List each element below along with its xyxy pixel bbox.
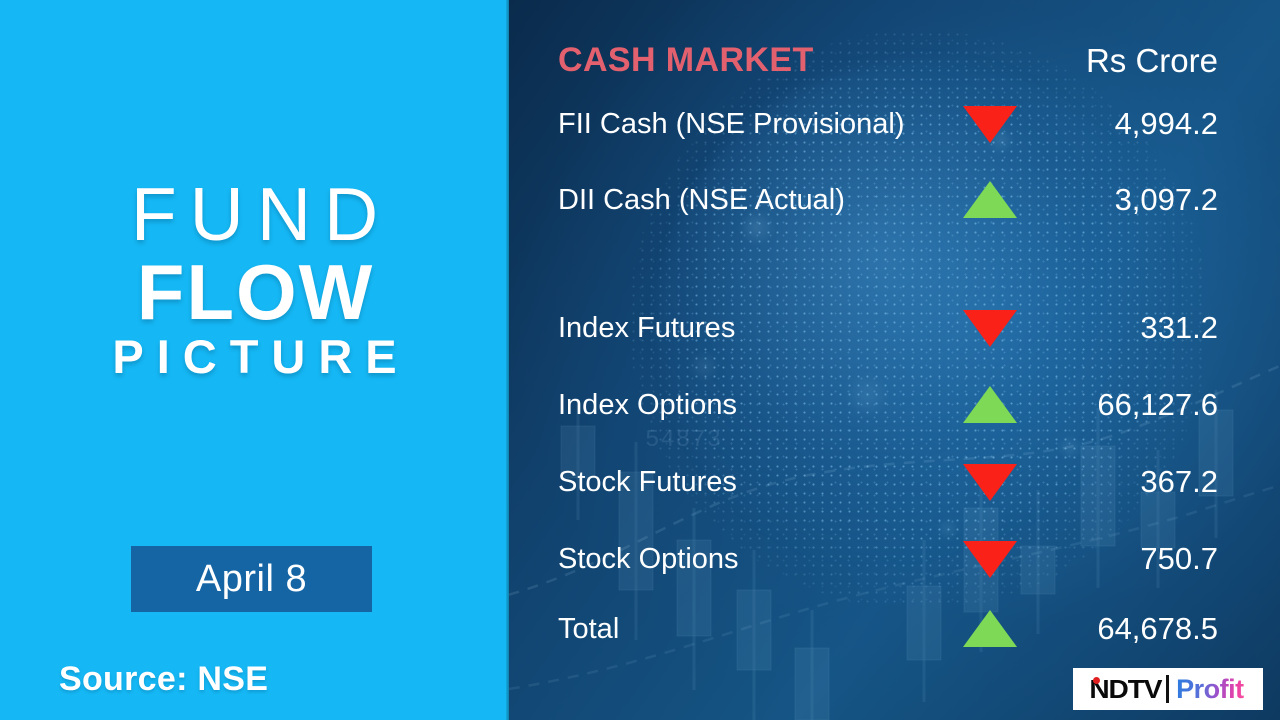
table-row: FII Cash (NSE Provisional) 4,994.2 xyxy=(509,96,1280,152)
direction-up-icon xyxy=(962,385,1018,425)
direction-up-icon xyxy=(962,180,1018,220)
logo-ndtv-text: NDTV xyxy=(1090,674,1162,705)
ndtv-profit-logo: NDTV Profit xyxy=(1073,668,1263,710)
row-label: Stock Futures xyxy=(558,454,737,510)
direction-up-icon xyxy=(962,609,1018,649)
row-value: 750.7 xyxy=(1140,531,1218,587)
title-line-picture: PICTURE xyxy=(0,334,509,380)
fund-flow-table: CASH MARKET Rs Crore FII Cash (NSE Provi… xyxy=(509,0,1280,720)
row-value: 367.2 xyxy=(1140,454,1218,510)
direction-down-icon xyxy=(962,308,1018,348)
title-line-flow: FLOW xyxy=(0,254,509,330)
source-attribution: Source: NSE xyxy=(59,660,268,699)
logo-red-dot-icon xyxy=(1093,677,1100,684)
date-badge: April 8 xyxy=(131,546,372,612)
direction-down-icon xyxy=(962,539,1018,579)
table-row: Stock Options 750.7 xyxy=(509,531,1280,587)
logo-profit-text: Profit xyxy=(1176,674,1244,705)
row-label: Total xyxy=(558,601,619,657)
row-label: DII Cash (NSE Actual) xyxy=(558,172,845,228)
row-label: Stock Options xyxy=(558,531,739,587)
left-title-panel: FUND FLOW PICTURE April 8 Source: NSE xyxy=(0,0,509,720)
fund-flow-picture-graphic: FUND FLOW PICTURE April 8 Source: NSE xyxy=(0,0,1280,720)
page-title: FUND FLOW PICTURE xyxy=(0,178,509,380)
table-row: Stock Futures 367.2 xyxy=(509,454,1280,510)
units-label: Rs Crore xyxy=(1086,42,1218,80)
logo-divider xyxy=(1166,675,1169,703)
direction-down-icon xyxy=(962,104,1018,144)
row-value: 3,097.2 xyxy=(1115,172,1218,228)
section-title: CASH MARKET xyxy=(558,41,814,80)
row-label: Index Options xyxy=(558,377,737,433)
data-panel: 54873 CASH MARKET Rs Crore FII Cash (NSE… xyxy=(509,0,1280,720)
table-row: Index Options 66,127.6 xyxy=(509,377,1280,433)
row-value: 331.2 xyxy=(1140,300,1218,356)
table-header-row: CASH MARKET Rs Crore xyxy=(509,0,1280,44)
row-label: Index Futures xyxy=(558,300,735,356)
date-badge-label: April 8 xyxy=(196,558,307,601)
row-value: 64,678.5 xyxy=(1097,601,1218,657)
title-line-fund: FUND xyxy=(0,178,509,252)
table-row: DII Cash (NSE Actual) 3,097.2 xyxy=(509,172,1280,228)
row-value: 66,127.6 xyxy=(1097,377,1218,433)
direction-down-icon xyxy=(962,462,1018,502)
row-label: FII Cash (NSE Provisional) xyxy=(558,96,905,152)
table-row: Total 64,678.5 xyxy=(509,601,1280,657)
row-value: 4,994.2 xyxy=(1115,96,1218,152)
table-row: Index Futures 331.2 xyxy=(509,300,1280,356)
